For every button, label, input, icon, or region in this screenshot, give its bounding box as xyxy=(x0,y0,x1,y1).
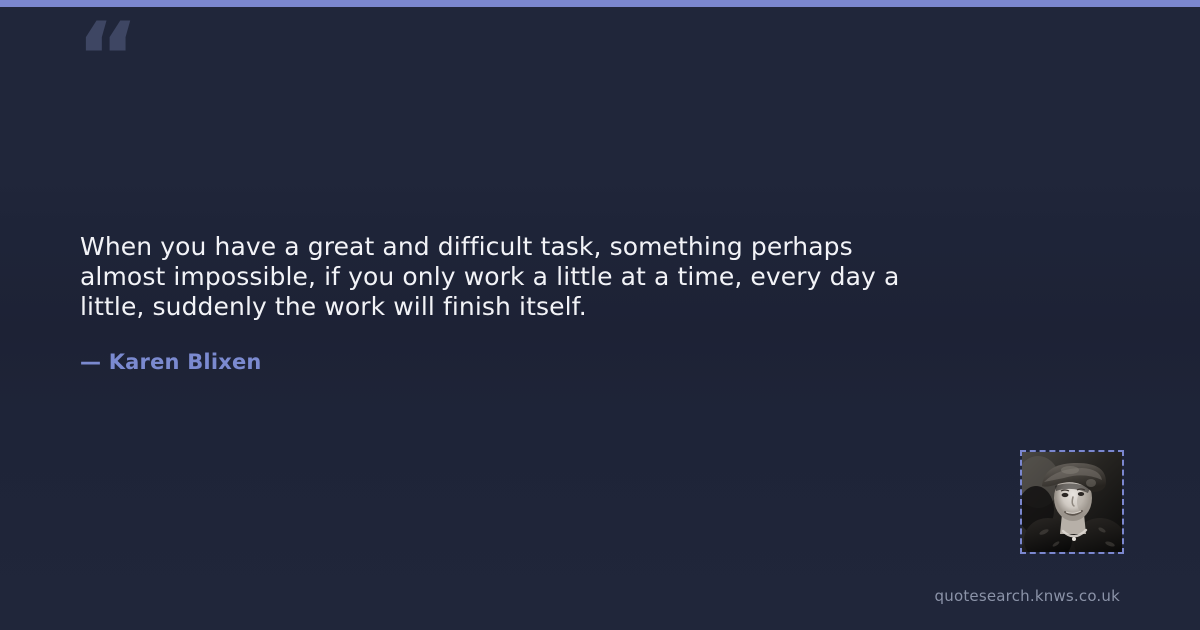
quote-line-1: When you have a great and difficult task… xyxy=(80,232,980,262)
quote-author-attribution: — Karen Blixen xyxy=(80,348,262,376)
quote-block: When you have a great and difficult task… xyxy=(80,232,980,322)
top-accent-bar xyxy=(0,0,1200,7)
quote-line-2: almost impossible, if you only work a li… xyxy=(80,262,980,292)
source-url-label: quotesearch.knws.co.uk xyxy=(935,586,1120,606)
author-portrait-image xyxy=(1022,452,1122,552)
quote-card: “ When you have a great and difficult ta… xyxy=(0,0,1200,630)
author-portrait-frame xyxy=(1020,450,1124,554)
quote-line-3: little, suddenly the work will finish it… xyxy=(80,292,980,322)
open-quote-icon: “ xyxy=(76,10,137,106)
